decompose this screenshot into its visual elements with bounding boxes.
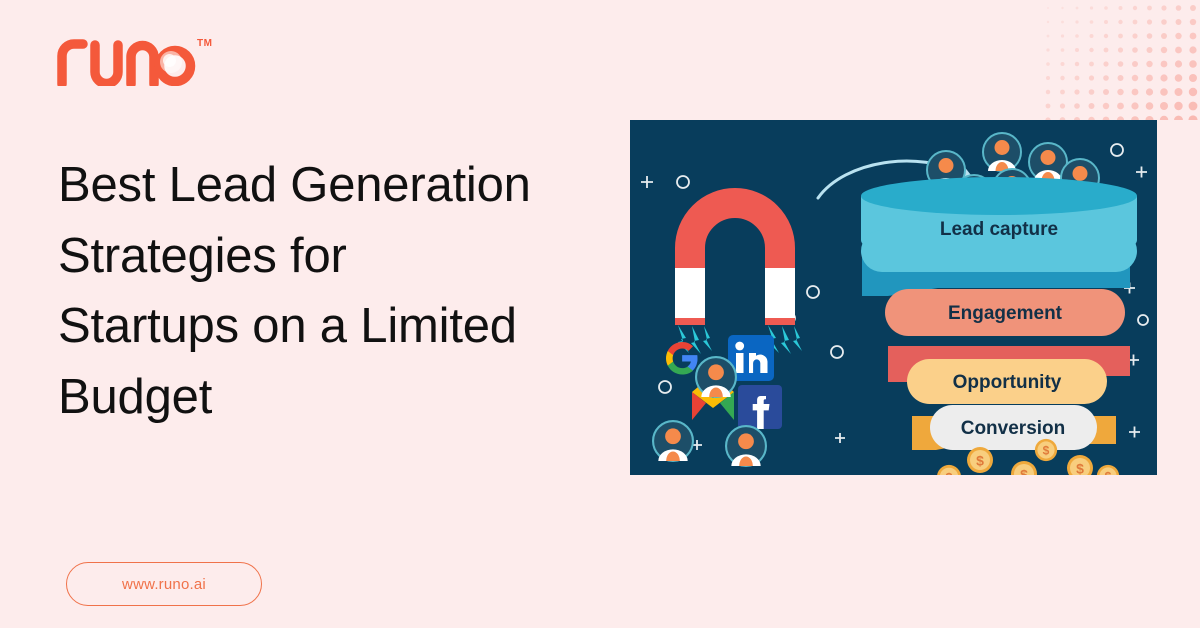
coin — [1035, 439, 1057, 461]
runo-wordmark-icon — [56, 34, 196, 86]
website-url-label: www.runo.ai — [122, 576, 206, 593]
avatar — [726, 426, 766, 466]
funnel-stage-label: Conversion — [961, 418, 1066, 439]
coin — [967, 447, 993, 473]
funnel-stage-conversion: Conversion — [930, 405, 1097, 450]
avatar — [653, 421, 693, 461]
funnel-stage-label: Engagement — [948, 303, 1063, 324]
funnel-stage-label: Opportunity — [953, 372, 1062, 393]
funnel-stage-lead-capture: Lead capture — [861, 177, 1137, 272]
trademark-symbol: TM — [197, 38, 212, 49]
avatar — [696, 357, 736, 397]
avatar — [983, 133, 1021, 171]
lead-funnel-illustration: $ — [630, 120, 1157, 475]
funnel-stage-label: Lead capture — [940, 219, 1058, 240]
funnel-stage-opportunity: Opportunity — [907, 359, 1107, 404]
facebook-icon — [738, 385, 782, 429]
page-title: Best Lead GenerationStrategies forStartu… — [58, 150, 638, 432]
runo-logo[interactable]: TM — [56, 34, 212, 86]
funnel-stage-engagement: Engagement — [885, 289, 1125, 336]
halftone-dot-pattern — [1040, 0, 1200, 120]
website-url-badge[interactable]: www.runo.ai — [66, 562, 262, 606]
